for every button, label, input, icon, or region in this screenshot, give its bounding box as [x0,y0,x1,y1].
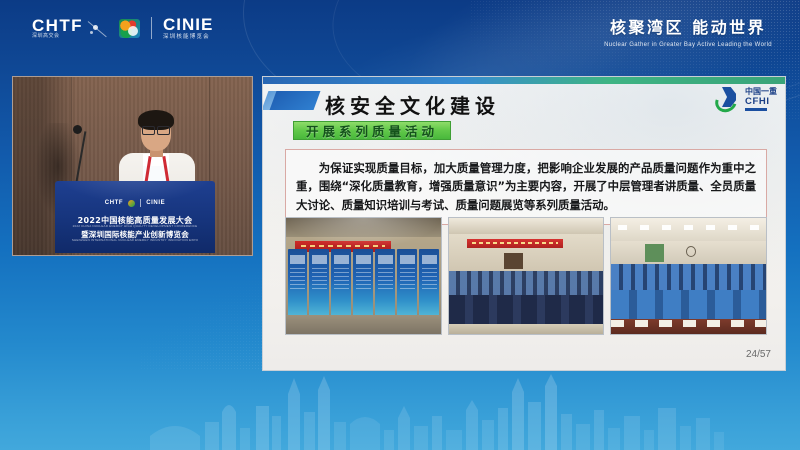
cfhi-logo-icon: 中国一重 CFHI [715,87,777,112]
photo-exhibition-banners[interactable] [285,217,442,335]
podium-title-line1-en: 2022 CHINA NUCLEAR ENERGY HIGH QUALITY D… [55,224,215,228]
slide-title: 核安全文化建设 [325,90,500,119]
photo-floor [286,315,441,334]
glasses-icon [142,126,170,133]
podium-panel: CHTF CINIE 2022中国核能高质量发展大会 2022 CHINA NU… [55,181,215,253]
rollup-banner [375,249,395,317]
chtf-logo-text: CHTF [32,17,83,34]
photo-audience-front [449,295,604,325]
podium-cinie-logo: CINIE [146,200,165,206]
photo-ceiling-lights [618,225,760,230]
photo-exam-papers [611,320,766,327]
slide-body-box: 为保证实现质量目标，加大质量管理力度，把影响企业发展的产品质量问题作为重中之重，… [285,149,767,225]
cinie-logo-subtext: 深圳核能博览会 [163,35,213,41]
photo-podium [504,253,523,269]
podium-chtf-logo: CHTF [105,200,123,206]
photo-rollup-banner-row [288,249,440,317]
slide-body-text: 为保证实现质量目标，加大质量管理力度，把影响企业发展的产品质量问题作为重中之重，… [296,159,756,214]
cfhi-logo-underline [745,108,767,111]
webcast-stage: CHTF 深圳高交会 CINIE 深圳核能博览会 核聚湾区 能动世界 Nucle… [0,0,800,450]
cinie-logo-text: CINIE [163,16,213,33]
microphone-icon [73,125,82,134]
photo-quality-meeting[interactable] [448,217,605,335]
event-header: CHTF 深圳高交会 CINIE 深圳核能博览会 核聚湾区 能动世界 Nucle… [0,0,800,62]
podium-logo-divider [140,199,141,207]
presentation-slide[interactable]: 核安全文化建设 开展系列质量活动 中国一重 CFHI 为保证实现质量目标，加大质… [262,76,786,371]
rollup-banner [331,249,351,317]
satellite-icon [90,19,112,37]
photo-trainees-front [611,290,766,320]
event-logo-group: CHTF 深圳高交会 CINIE 深圳核能博览会 [32,16,213,41]
title-accent-shape [270,91,321,110]
podium-globe-icon [128,200,135,207]
slide-photo-row [285,217,767,335]
cfhi-logo-english: CFHI [745,97,777,107]
slide-subtitle-banner: 开展系列质量活动 [293,121,451,140]
photo-front-desk [449,324,604,334]
rollup-banner [353,249,373,317]
photo-light-glow [286,218,441,248]
speaker-video-feed[interactable]: CHTF CINIE 2022中国核能高质量发展大会 2022 CHINA NU… [12,76,253,256]
slogan-english: Nuclear Gather in Greater Bay Active Lea… [604,42,772,48]
cfhi-mark [715,87,741,112]
podium-logo-row: CHTF CINIE [55,199,215,207]
photo-green-board [645,244,664,263]
slogan-chinese: 核聚湾区 能动世界 [604,14,772,38]
rollup-banner [419,249,439,317]
photo-ceiling [449,218,604,234]
rollup-banner [288,249,308,317]
logo-divider [151,17,152,39]
slide-page-number: 24/57 [746,349,771,360]
photo-red-banner [467,239,563,248]
rollup-banner [397,249,417,317]
photo-training-exam[interactable] [610,217,767,335]
podium-title-line2-en: SHENZHEN INTERNATIONAL NUCLEAR ENERGY IN… [55,238,215,242]
cinie-globe-icon [119,19,140,38]
rollup-banner [309,249,329,317]
chtf-logo-subtext: 深圳高交会 [32,34,83,39]
shenzhen-skyline-watermark [0,372,800,450]
event-slogan: 核聚湾区 能动世界 Nuclear Gather in Greater Bay … [604,14,772,48]
slide-top-accent-bar [263,77,785,84]
photo-ceiling [611,218,766,241]
